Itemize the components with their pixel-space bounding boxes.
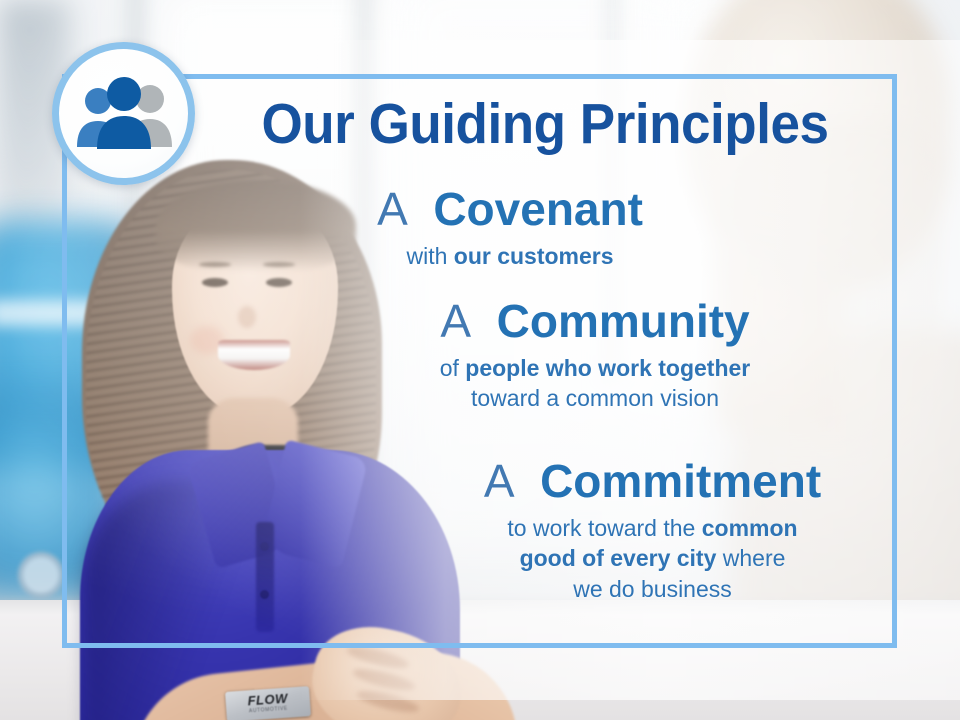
principle-article: A: [377, 183, 420, 235]
principle-subtext-line: we do business: [420, 574, 885, 604]
principle-title: A Community: [360, 298, 830, 346]
principle-subtext: to work toward the common good of every …: [420, 513, 885, 604]
subtext-emphasis: good of every city: [520, 545, 717, 571]
subtext-plain: we do business: [573, 576, 732, 602]
principle-block-commitment: A Commitment to work toward the common g…: [420, 458, 885, 604]
principle-keyword: Commitment: [540, 455, 821, 507]
subtext-plain: where: [716, 545, 785, 571]
principle-keyword: Community: [497, 295, 750, 347]
principle-keyword: Covenant: [433, 183, 643, 235]
guiding-principles-poster: FLOW FLOW AUTOMOTIVE: [0, 0, 960, 720]
employee-eye: [202, 278, 228, 287]
subtext-plain: with: [406, 243, 453, 269]
principle-subtext-line: toward a common vision: [360, 383, 830, 413]
subtext-emphasis: people who work together: [465, 355, 750, 381]
group-icon-badge: [52, 42, 195, 185]
principle-title: A Covenant: [300, 186, 720, 234]
principle-block-covenant: A Covenant with our customers: [300, 186, 720, 271]
employee-name-badge: FLOW AUTOMOTIVE: [225, 686, 311, 720]
employee-eyebrow: [199, 262, 231, 267]
principle-subtext-line: with our customers: [300, 241, 720, 271]
group-of-people-icon: [72, 77, 176, 151]
blurred-car-emblem: [18, 552, 64, 598]
principle-subtext: of people who work together toward a com…: [360, 353, 830, 414]
principle-block-community: A Community of people who work together …: [360, 298, 830, 414]
principle-article: A: [440, 295, 483, 347]
principle-subtext: with our customers: [300, 241, 720, 271]
principle-article: A: [484, 455, 527, 507]
employee-shirt-placket: [256, 522, 274, 632]
subtext-plain: to work toward the: [507, 515, 701, 541]
subtext-emphasis: common: [702, 515, 798, 541]
employee-nose: [238, 306, 256, 328]
employee-shirt-button: [260, 542, 269, 551]
page-title: Our Guiding Principles: [238, 96, 852, 153]
subtext-plain: of: [440, 355, 466, 381]
principle-subtext-line: of people who work together: [360, 353, 830, 383]
principle-subtext-line: good of every city where: [420, 543, 885, 573]
principle-title: A Commitment: [420, 458, 885, 506]
employee-smile: [218, 340, 290, 370]
employee-shirt-button: [260, 590, 269, 599]
employee-eyebrow: [263, 262, 295, 267]
subtext-emphasis: our customers: [454, 243, 614, 269]
subtext-plain: toward a common vision: [471, 385, 719, 411]
principle-subtext-line: to work toward the common: [420, 513, 885, 543]
employee-eye: [266, 278, 292, 287]
